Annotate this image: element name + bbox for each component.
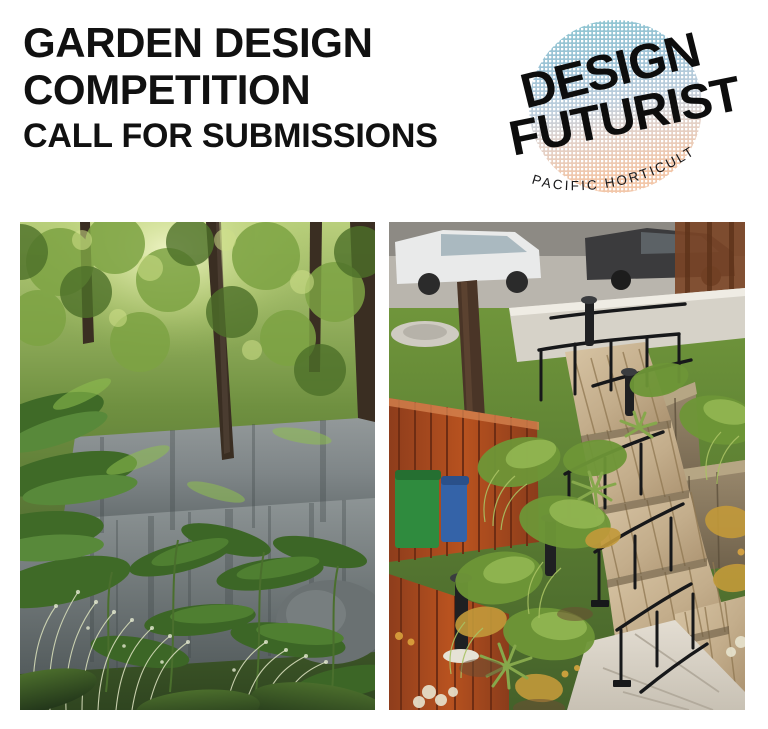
logo-tagline-textpath: PACIFIC HORTICULTURE xyxy=(492,0,698,193)
design-futurist-logo: DESIGN FUTURIST PACIFIC HORTICULTURE xyxy=(498,12,756,204)
logo-wordmark: DESIGN FUTURIST PACIFIC HORTICULTURE xyxy=(498,12,756,204)
photo-row: Shaded woodland garden with lush green f… xyxy=(0,212,768,729)
logo-tagline-arc: PACIFIC HORTICULTURE xyxy=(498,12,756,204)
woodland-garden-scene xyxy=(20,222,375,710)
headline-block: GARDEN DESIGN COMPETITION CALL FOR SUBMI… xyxy=(23,22,493,153)
logo-tagline-text: PACIFIC HORTICULTURE xyxy=(492,0,698,193)
woodland-garden-photo: Shaded woodland garden with lush green f… xyxy=(20,222,375,710)
page-title-line-1: GARDEN DESIGN xyxy=(23,22,493,69)
poster-header: GARDEN DESIGN COMPETITION CALL FOR SUBMI… xyxy=(0,0,768,212)
page-title-line-2: COMPETITION xyxy=(23,69,493,116)
hillside-stair-garden-scene xyxy=(389,222,745,710)
page-subtitle: CALL FOR SUBMISSIONS xyxy=(23,116,493,153)
hillside-stair-garden-photo: Hillside garden with timber deck stairs,… xyxy=(389,222,745,710)
